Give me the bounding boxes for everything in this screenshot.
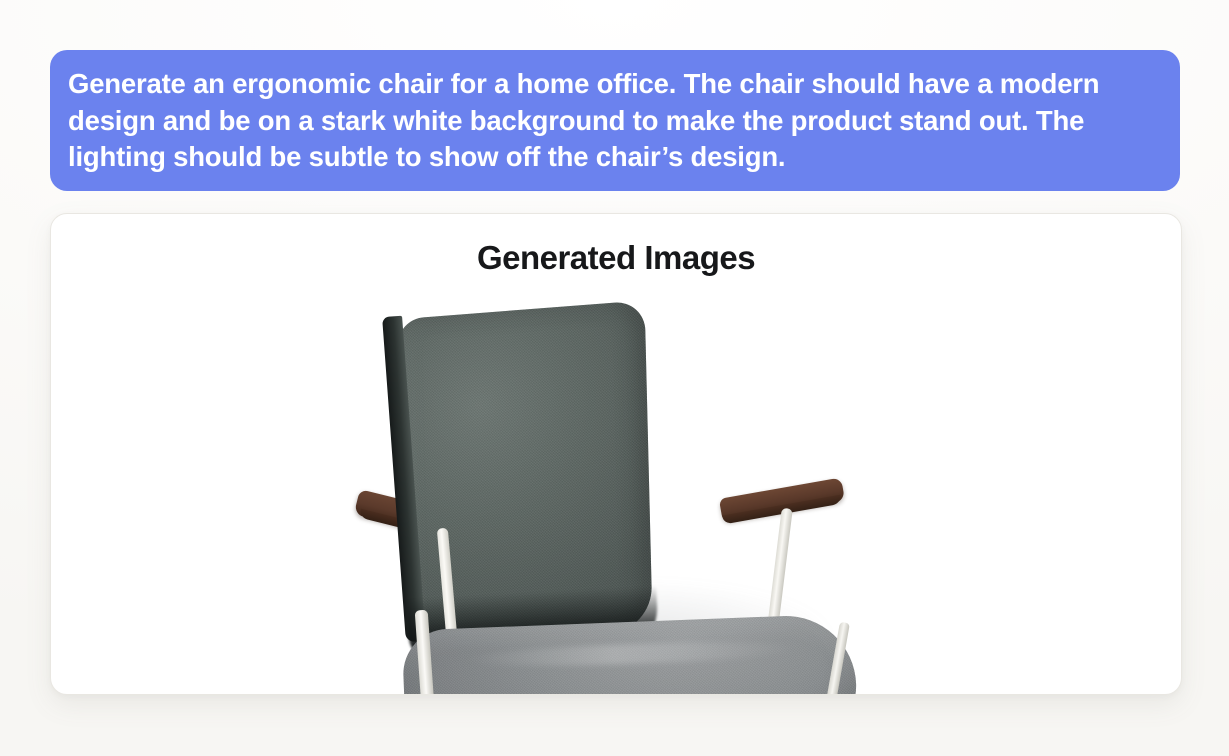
generated-chair-image[interactable] (346, 292, 892, 695)
prompt-text: Generate an ergonomic chair for a home o… (68, 66, 1158, 176)
generated-image-area[interactable] (346, 292, 892, 695)
generated-images-title: Generated Images (51, 214, 1181, 278)
generated-images-card: Generated Images (50, 213, 1182, 695)
prompt-bubble: Generate an ergonomic chair for a home o… (50, 50, 1180, 191)
